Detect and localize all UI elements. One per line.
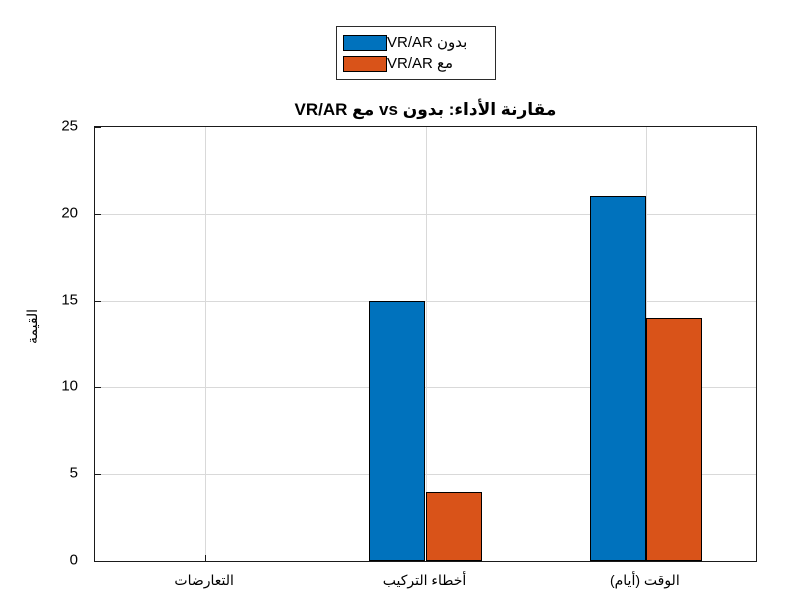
y-tick-label: 10 bbox=[61, 378, 78, 395]
y-tick-label: 15 bbox=[61, 291, 78, 308]
chart-legend: بدون VR/AR مع VR/AR bbox=[336, 26, 496, 80]
x-axis-tick-labels: التعارضاتأخطاء التركيبالوقت (أيام) bbox=[94, 566, 757, 606]
x-tick-label: الوقت (أيام) bbox=[610, 572, 680, 589]
bar[interactable] bbox=[426, 492, 482, 561]
x-tick-mark bbox=[205, 555, 206, 561]
legend-swatch-without-vr-ar bbox=[343, 35, 387, 51]
bar[interactable] bbox=[646, 318, 702, 561]
bar[interactable] bbox=[590, 196, 646, 561]
x-tick-label: التعارضات bbox=[174, 572, 234, 589]
y-tick-mark bbox=[95, 301, 101, 302]
grid-line-vertical bbox=[205, 127, 206, 561]
y-tick-mark bbox=[95, 214, 101, 215]
y-tick-mark bbox=[95, 474, 101, 475]
legend-swatch-with-vr-ar bbox=[343, 56, 387, 72]
legend-label-with-vr-ar: مع VR/AR bbox=[387, 56, 453, 72]
bar[interactable] bbox=[369, 301, 425, 561]
y-tick-mark bbox=[95, 127, 101, 128]
y-tick-label: 20 bbox=[61, 204, 78, 221]
chart-figure: بدون VR/AR مع VR/AR مقارنة الأداء: بدون … bbox=[0, 0, 803, 607]
chart-title: مقارنة الأداء: بدون vs مع VR/AR bbox=[94, 100, 757, 120]
plot-axes bbox=[94, 126, 757, 562]
y-tick-mark bbox=[95, 387, 101, 388]
y-tick-label: 5 bbox=[70, 465, 78, 482]
plot-area bbox=[95, 127, 756, 561]
legend-entry-without-vr-ar[interactable]: بدون VR/AR bbox=[343, 32, 489, 53]
y-tick-label: 0 bbox=[70, 552, 78, 569]
y-tick-label: 25 bbox=[61, 118, 78, 135]
x-tick-label: أخطاء التركيب bbox=[383, 572, 467, 589]
y-axis-tick-labels: 0510152025 bbox=[0, 126, 86, 562]
legend-entry-with-vr-ar[interactable]: مع VR/AR bbox=[343, 53, 489, 74]
legend-label-without-vr-ar: بدون VR/AR bbox=[387, 35, 467, 51]
y-tick-mark bbox=[95, 561, 101, 562]
